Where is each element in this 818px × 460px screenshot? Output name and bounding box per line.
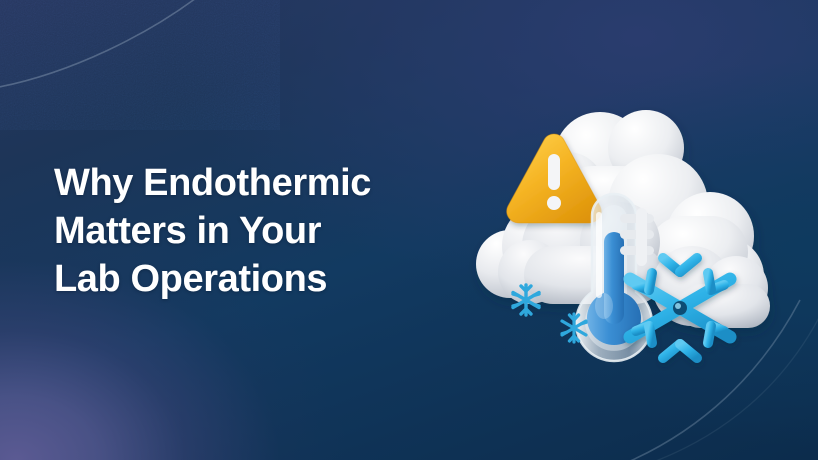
noise-texture-overlay [0,0,280,130]
headline-line-1: Why Endothermic [54,160,474,208]
headline-line-3: Lab Operations [54,256,474,304]
headline-line-2: Matters in Your [54,208,474,256]
banner-root: Why Endothermic Matters in Your Lab Oper… [0,0,818,460]
arc-top-left-line [0,0,204,88]
endothermic-illustration [468,96,778,376]
banner-headline: Why Endothermic Matters in Your Lab Oper… [54,160,474,304]
